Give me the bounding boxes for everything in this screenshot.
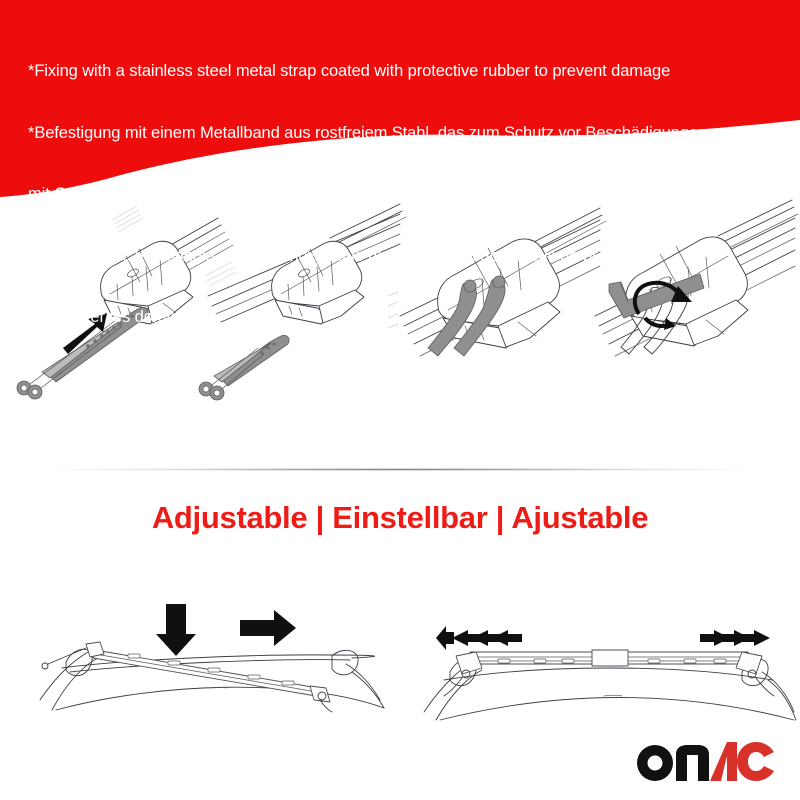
banner-line-de-1: *Befestigung mit einem Metallband aus ro…	[28, 123, 788, 144]
crossbar-left	[42, 642, 332, 712]
header-banner: *Fixing with a stainless steel metal str…	[0, 0, 800, 200]
right-arrow-icon	[240, 610, 296, 646]
banner-line-en: *Fixing with a stainless steel metal str…	[28, 61, 788, 82]
logo-letter-c	[737, 742, 774, 781]
car-roof-left	[40, 649, 384, 710]
adjustment-panel	[0, 560, 800, 740]
omac-logo-mark	[636, 740, 776, 782]
down-arrow-icon	[156, 604, 196, 656]
banner-line-fr-2: pour éviter les dommages.	[28, 307, 788, 328]
section-divider	[40, 468, 760, 471]
arrows-right-icon	[700, 630, 770, 646]
banner-line-de-2: mit Gummi überzogen ist	[28, 184, 788, 205]
omac-logo: OMAC	[636, 740, 776, 782]
adjust-left-illustration	[40, 604, 384, 712]
arrows-left-icon	[436, 626, 522, 650]
banner-line-fr-1: *Fixation avec une sangle en métal inoxy…	[28, 246, 788, 267]
logo-letter-m	[676, 745, 709, 781]
adjust-right-illustration	[424, 626, 796, 720]
banner-text-block: *Fixing with a stainless steel metal str…	[28, 20, 788, 369]
instruction-sheet: *Fixing with a stainless steel metal str…	[0, 0, 800, 800]
logo-letter-a	[710, 742, 737, 781]
adjustment-svg	[0, 560, 800, 740]
logo-letter-o	[637, 745, 673, 781]
section-title-adjustable: Adjustable | Einstellbar | Ajustable	[0, 500, 800, 536]
